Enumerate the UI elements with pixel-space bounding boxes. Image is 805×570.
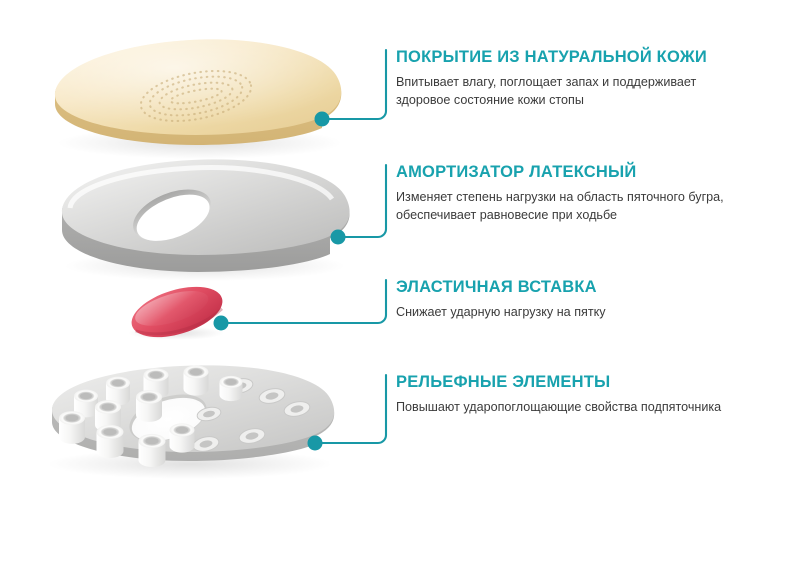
elastic-insert-layer — [126, 277, 229, 347]
callout-body: Изменяет степень нагрузки на область пят… — [396, 189, 741, 224]
callout-body: Впитывает влагу, поглощает запах и подде… — [396, 74, 741, 109]
relief-nub — [220, 376, 243, 401]
leader-dot-latex — [331, 230, 346, 245]
leather-coating-layer — [55, 39, 342, 159]
callout-relief-elements: РЕЛЬЕФНЫЕ ЭЛЕМЕНТЫ Повышают ударопоглоща… — [396, 373, 756, 417]
relief-nub — [97, 425, 124, 458]
callout-leather-coating: ПОКРЫТИЕ ИЗ НАТУРАЛЬНОЙ КОЖИ Впитывает в… — [396, 48, 756, 109]
relief-nub — [136, 390, 162, 422]
callout-title: АМОРТИЗАТОР ЛАТЕКСНЫЙ — [396, 163, 756, 182]
relief-nub — [59, 411, 85, 444]
callout-body: Повышают ударопоглощающие свойства подпя… — [396, 399, 741, 417]
callout-title: РЕЛЬЕФНЫЕ ЭЛЕМЕНТЫ — [396, 373, 756, 392]
callout-latex-shock-absorber: АМОРТИЗАТОР ЛАТЕКСНЫЙ Изменяет степень н… — [396, 163, 756, 224]
callout-title: ПОКРЫТИЕ ИЗ НАТУРАЛЬНОЙ КОЖИ — [396, 48, 756, 67]
callout-title: ЭЛАСТИЧНАЯ ВСТАВКА — [396, 278, 756, 297]
leather-layer-sheen — [55, 39, 341, 135]
relief-nub — [170, 423, 195, 452]
latex-cushion-layer — [62, 159, 350, 281]
relief-elements-layer — [48, 365, 334, 479]
leader-dot-elastic — [214, 316, 229, 331]
callout-elastic-insert: ЭЛАСТИЧНАЯ ВСТАВКА Снижает ударную нагру… — [396, 278, 756, 322]
leader-line-elastic — [221, 280, 386, 323]
relief-nub — [184, 365, 209, 395]
callout-body: Снижает ударную нагрузку на пятку — [396, 304, 741, 322]
leader-dot-leather — [315, 112, 330, 127]
leader-dot-relief — [308, 436, 323, 451]
infographic-canvas: ПОКРЫТИЕ ИЗ НАТУРАЛЬНОЙ КОЖИ Впитывает в… — [0, 0, 805, 570]
relief-nub — [139, 434, 166, 467]
